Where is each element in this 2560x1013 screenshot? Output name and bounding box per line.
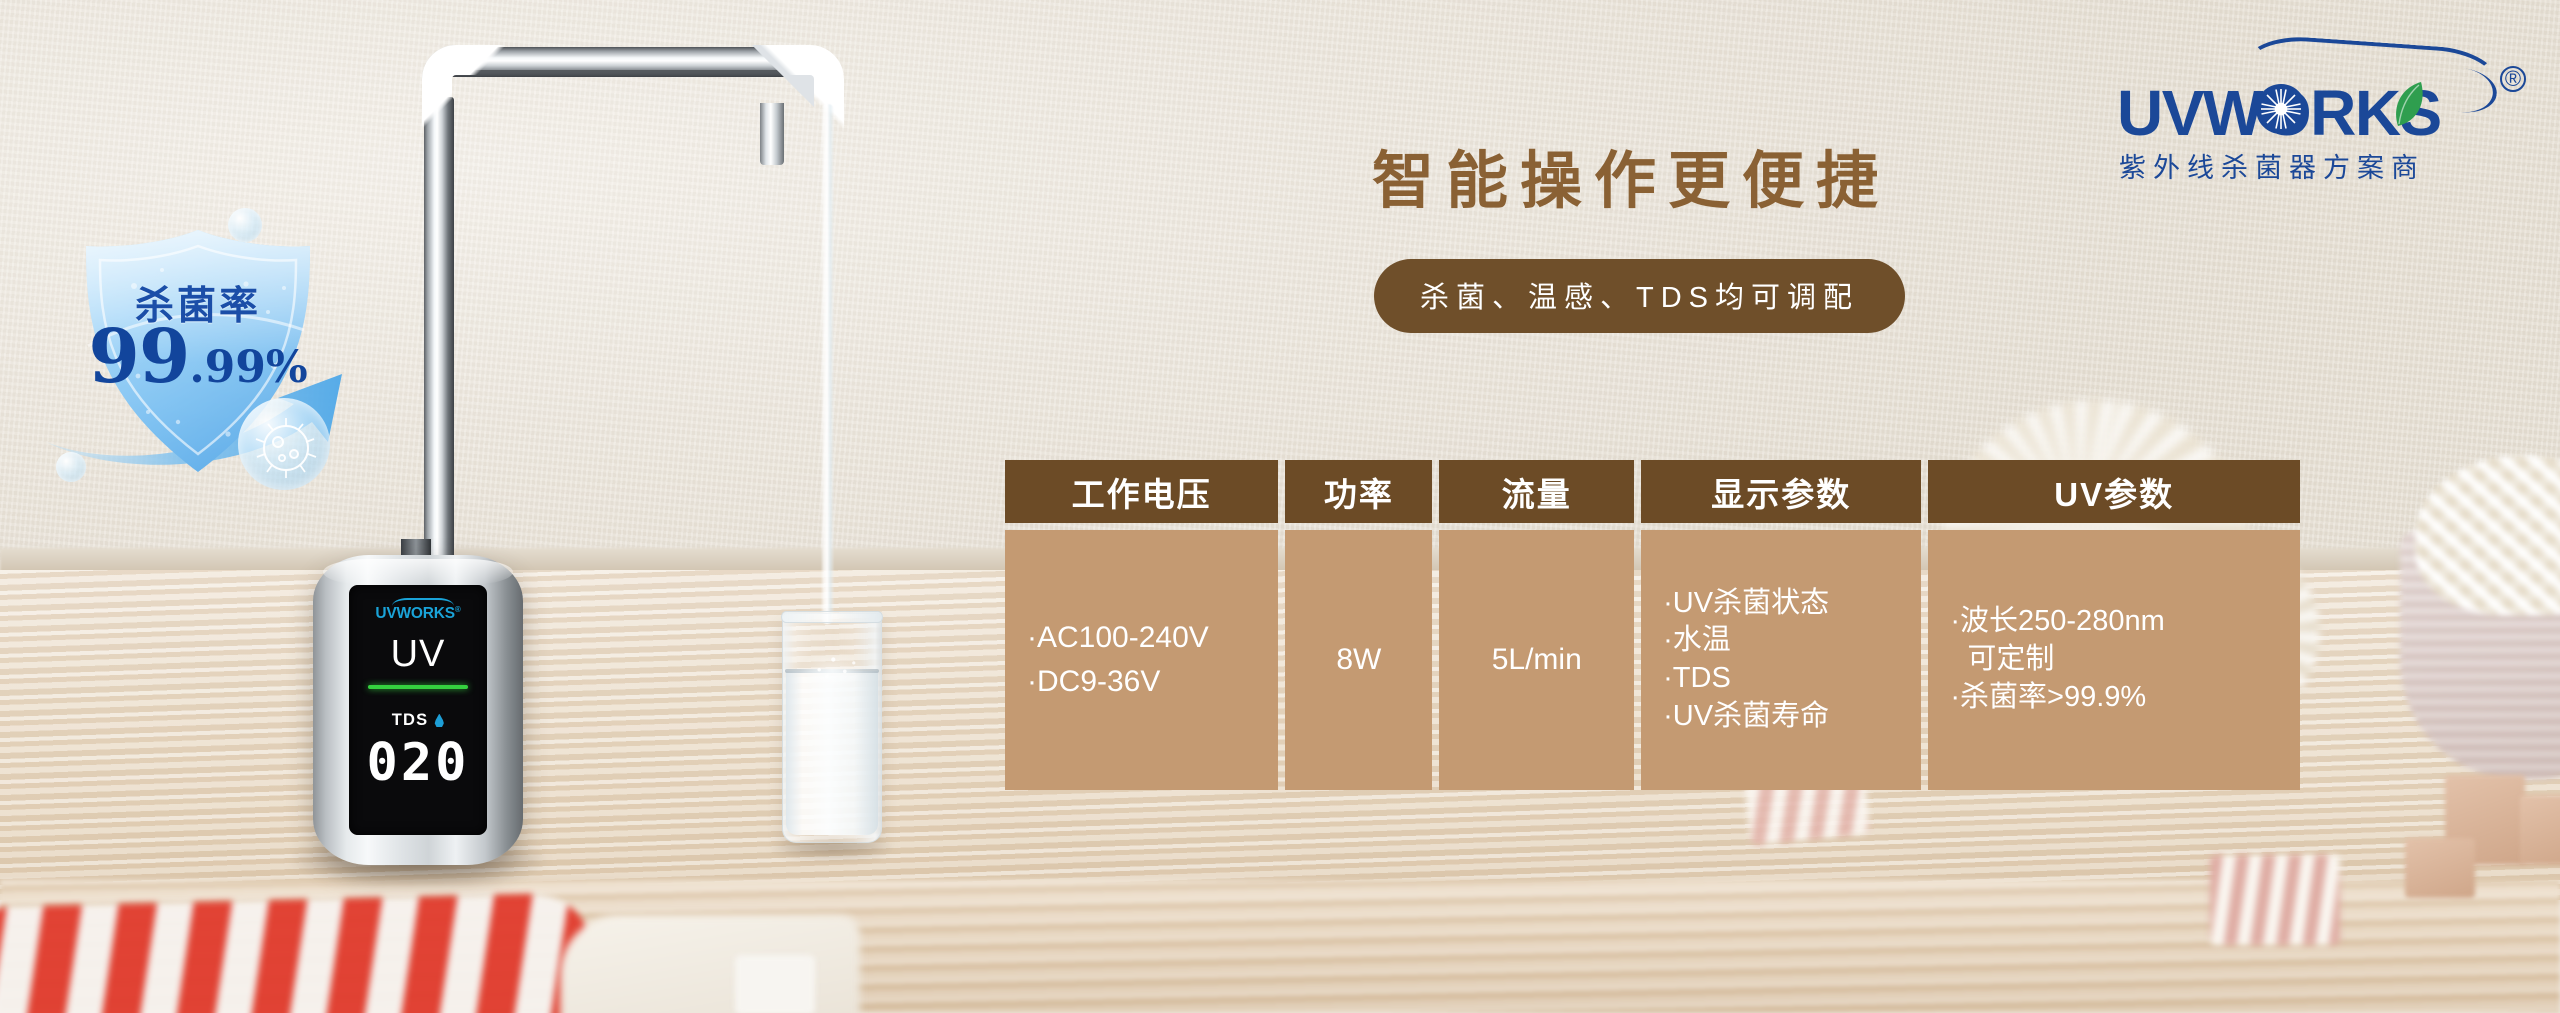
faucet-spout — [760, 103, 784, 165]
sunburst-icon — [2255, 83, 2307, 135]
spec-header-display: 显示参数 — [1641, 460, 1921, 523]
display-mode-label: UV — [349, 633, 487, 676]
display-brand-logo: UVWORKS® — [349, 605, 487, 623]
spec-line: 5L/min — [1492, 638, 1582, 682]
faucet-corner-right — [752, 45, 814, 107]
spec-cell-uv: ·波长250-280nm 可定制 ·杀菌率>99.9% — [1928, 530, 2300, 790]
registered-mark-icon: ® — [2500, 66, 2526, 92]
page-title: 智能操作更便捷 — [1372, 130, 1890, 220]
sterilization-rate-badge: 杀菌率 99.99% — [48, 200, 348, 500]
logo-arc-icon — [392, 598, 454, 614]
spec-column-uv: UV参数 ·波长250-280nm 可定制 ·杀菌率>99.9% — [1928, 460, 2300, 790]
spec-cell-power: 8W — [1285, 530, 1432, 790]
device-display-panel[interactable]: UVWORKS® UV TDS 020 — [349, 585, 487, 835]
spec-line: ·UV杀菌寿命 — [1663, 698, 1899, 736]
towel-corner — [735, 955, 815, 1013]
display-status-bar — [368, 685, 468, 689]
striped-spool-right — [2210, 855, 2340, 945]
leaf-icon — [2390, 80, 2426, 128]
brand-logo: UVWORKS ® 紫外线杀菌器方案商 — [2095, 36, 2525, 186]
spec-cell-voltage: ·AC100-240V ·DC9-36V — [1005, 530, 1278, 790]
spec-column-power: 功率 8W — [1285, 460, 1432, 790]
uv-sterilizer-device: UVWORKS® UV TDS 020 — [313, 555, 523, 875]
spec-header-voltage: 工作电压 — [1005, 460, 1278, 523]
spec-cell-flow: 5L/min — [1439, 530, 1634, 790]
device-body: UVWORKS® UV TDS 020 — [313, 555, 523, 865]
spec-line: ·AC100-240V — [1027, 616, 1256, 660]
badge-value: 99.99% — [48, 320, 348, 394]
feature-pill-badge: 杀菌、温感、TDS均可调配 — [1374, 259, 1905, 333]
spec-line: ·UV杀菌状态 — [1663, 585, 1899, 623]
spec-line: ·波长250-280nm — [1950, 603, 2278, 641]
wood-block-3 — [2405, 838, 2475, 898]
spec-line: ·DC9-36V — [1027, 660, 1256, 704]
water-glass — [782, 613, 882, 843]
spec-line: 8W — [1336, 638, 1381, 682]
spec-line: ·杀菌率>99.9% — [1950, 679, 2278, 717]
device-top-highlight — [323, 559, 513, 585]
water-drop-icon — [434, 714, 444, 728]
striped-towel — [0, 892, 592, 1013]
badge-value-major: 99 — [88, 314, 189, 400]
wood-block-2 — [2520, 795, 2560, 865]
water-splash — [800, 651, 864, 685]
spec-line: 可定制 — [1950, 641, 2278, 679]
glass-rim — [781, 611, 883, 623]
spec-column-display: 显示参数 ·UV杀菌状态 ·水温 ·TDS ·UV杀菌寿命 — [1641, 460, 1921, 790]
water-stream — [821, 104, 834, 624]
glass-water — [786, 671, 878, 835]
display-brand-mark: ® — [455, 605, 461, 614]
badge-text-group: 杀菌率 99.99% — [48, 200, 348, 500]
brand-tagline: 紫外线杀菌器方案商 — [2119, 146, 2425, 185]
spec-column-voltage: 工作电压 ·AC100-240V ·DC9-36V — [1005, 460, 1278, 790]
spec-header-flow: 流量 — [1439, 460, 1634, 523]
faucet-riser — [424, 97, 454, 607]
specification-table: 工作电压 ·AC100-240V ·DC9-36V 功率 8W 流量 5L/mi… — [1005, 460, 2300, 790]
spec-header-uv: UV参数 — [1928, 460, 2300, 523]
spec-column-flow: 流量 5L/min — [1439, 460, 1634, 790]
spec-line: ·水温 — [1663, 622, 1899, 660]
display-tds-row: TDS — [349, 711, 487, 730]
display-tds-value: 020 — [349, 737, 487, 789]
towel-fold — [560, 915, 860, 1013]
display-tds-label: TDS — [392, 711, 429, 730]
chrome-faucet — [415, 45, 835, 605]
spec-cell-display: ·UV杀菌状态 ·水温 ·TDS ·UV杀菌寿命 — [1641, 530, 1921, 790]
faucet-corner-left — [422, 45, 484, 107]
badge-value-minor: .99% — [189, 342, 307, 393]
spec-header-power: 功率 — [1285, 460, 1432, 523]
spec-line: ·TDS — [1663, 660, 1899, 698]
